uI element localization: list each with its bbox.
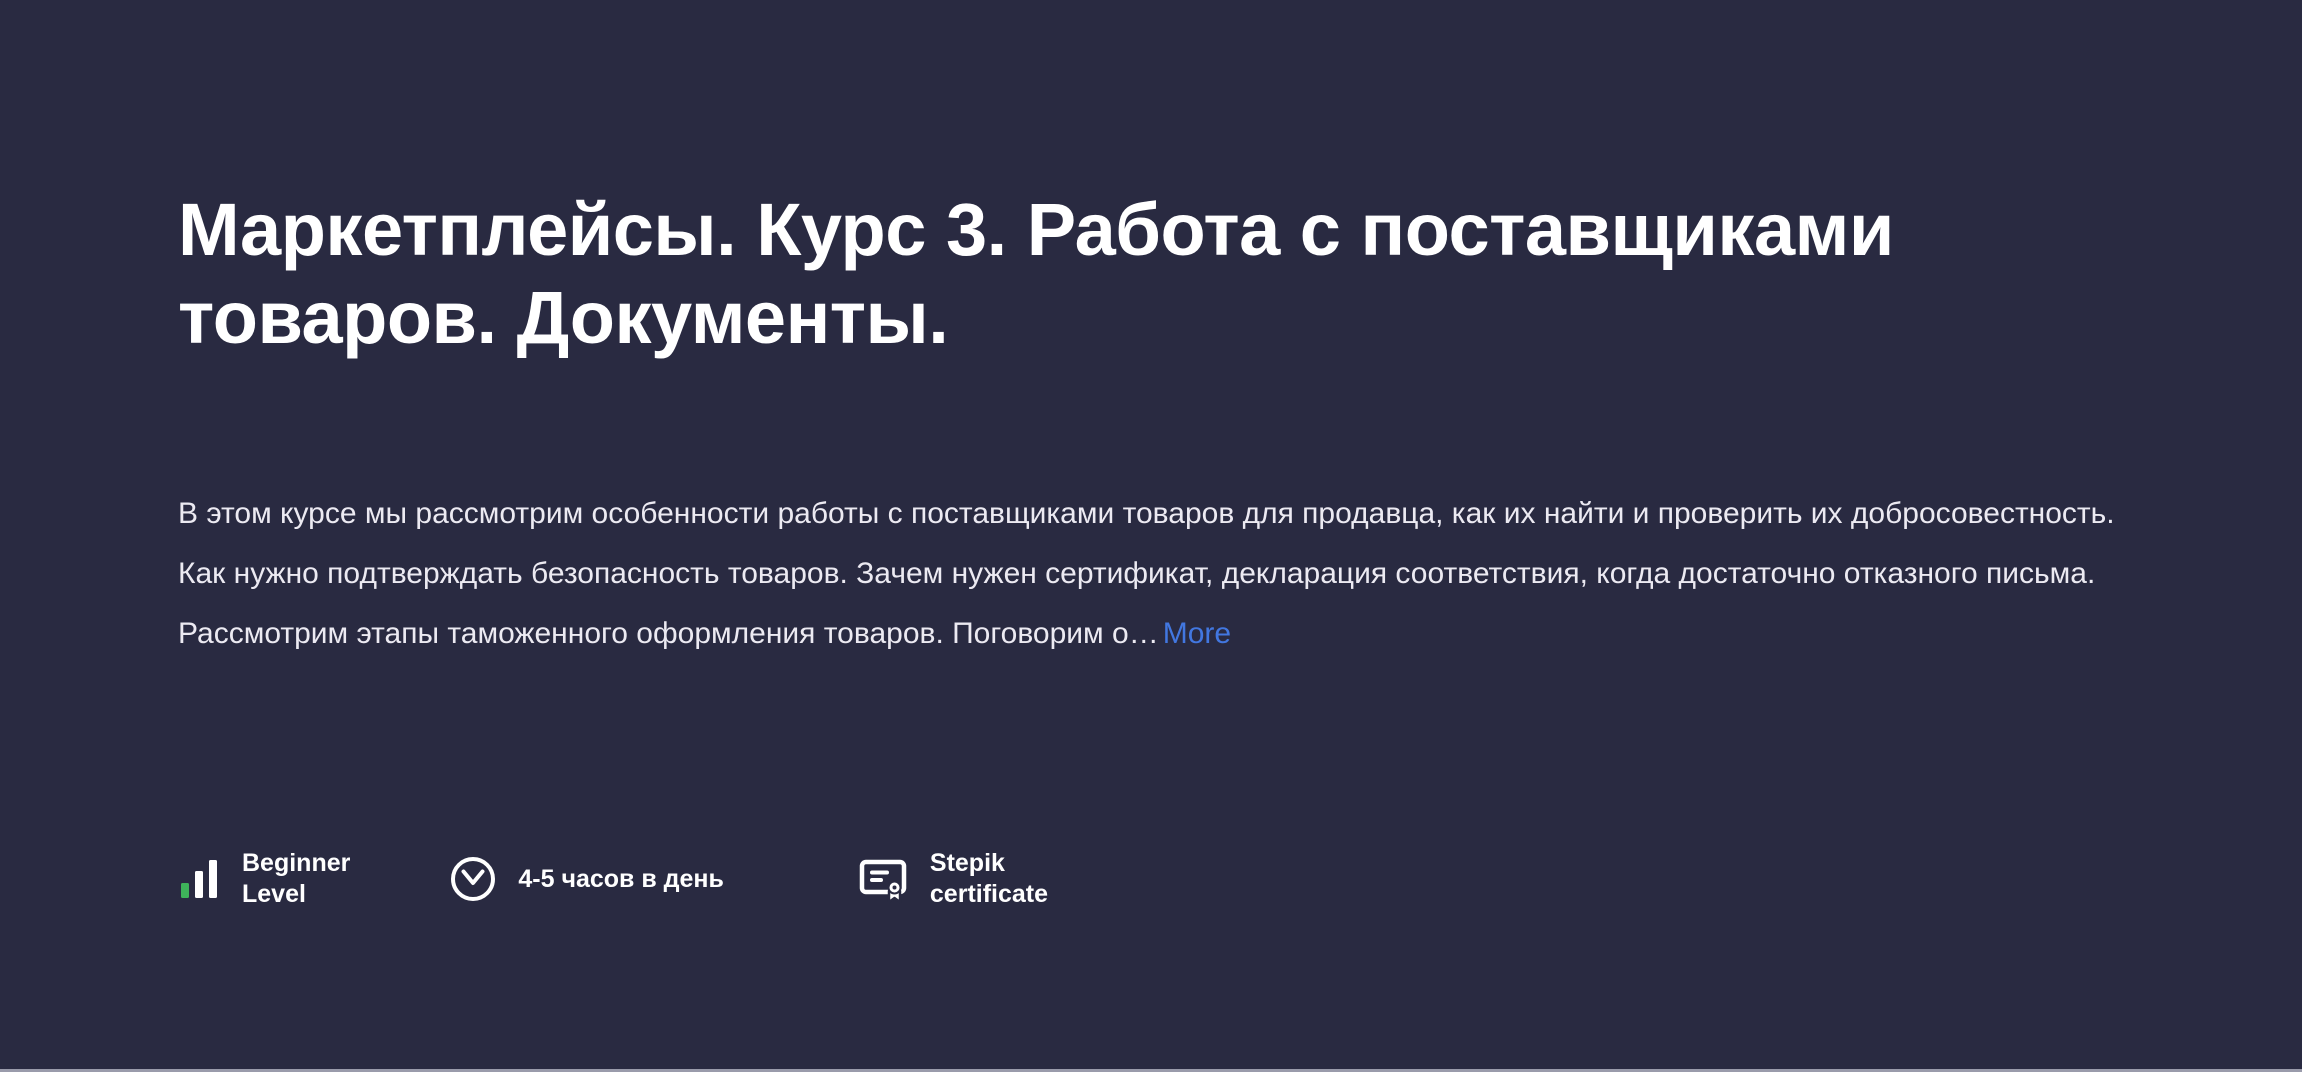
clock-icon: [448, 854, 498, 904]
course-hero-screen: Маркетплейсы. Курс 3. Работа с поставщик…: [0, 0, 2302, 1080]
course-title: Маркетплейсы. Курс 3. Работа с поставщик…: [178, 186, 2108, 362]
bar-chart-level-icon: [178, 857, 222, 901]
meta-item-level: Beginner Level: [178, 836, 350, 922]
more-link[interactable]: More: [1163, 617, 1231, 650]
meta-item-level-label: Beginner Level: [242, 848, 350, 910]
course-description-text: В этом курсе мы рассмотрим особенности р…: [178, 497, 2115, 650]
course-hero-panel: Маркетплейсы. Курс 3. Работа с поставщик…: [0, 0, 2302, 1069]
meta-item-duration-label: 4-5 часов в день: [518, 864, 724, 895]
course-description: В этом курсе мы рассмотрим особенности р…: [178, 484, 2146, 664]
bottom-strip: [0, 1072, 2302, 1080]
meta-item-certificate-label: Stepik certificate: [930, 848, 1048, 910]
meta-item-certificate: Stepik certificate: [858, 836, 1048, 922]
course-meta-row: Beginner Level 4-5 часов в день: [178, 836, 1048, 922]
certificate-icon: [858, 853, 910, 905]
meta-item-duration: 4-5 часов в день: [448, 836, 724, 922]
